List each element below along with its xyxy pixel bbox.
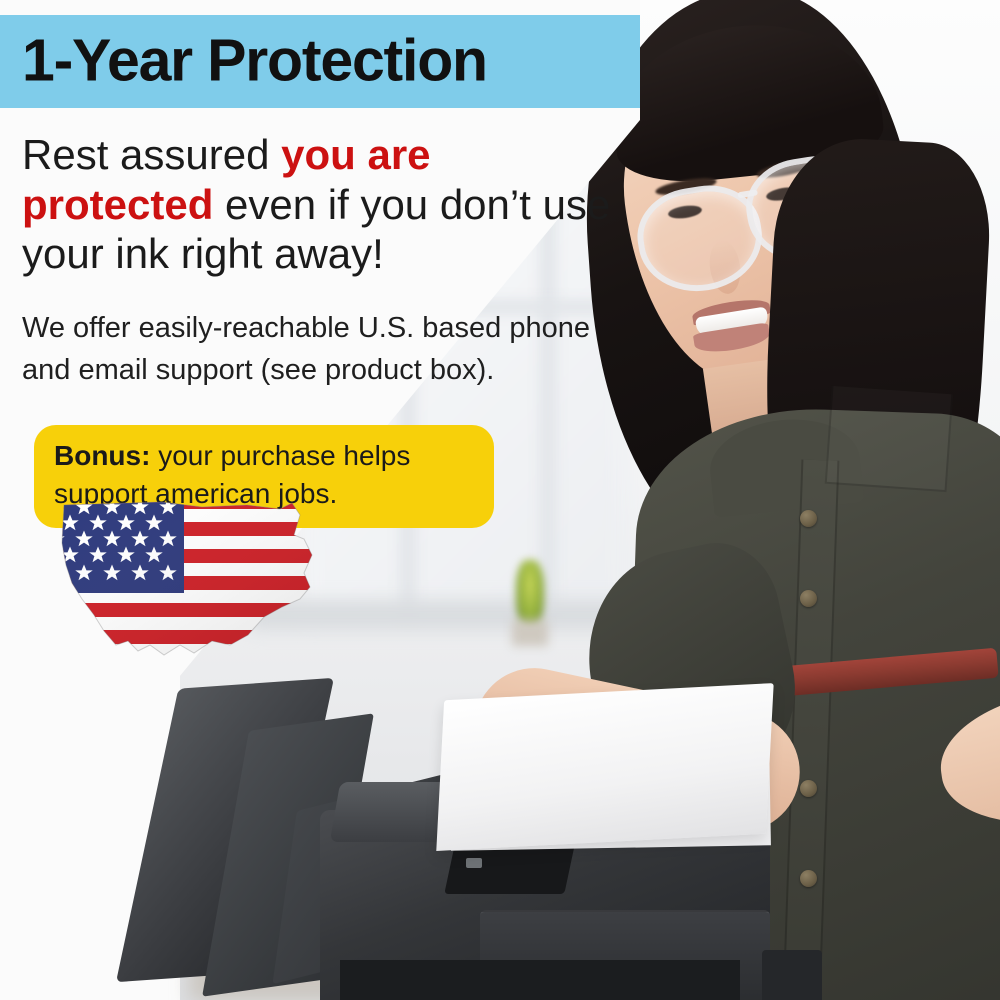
headline: Rest assured you are protected even if y… <box>22 130 612 279</box>
bonus-label: Bonus: <box>54 440 150 471</box>
support-paragraph: We offer easily-reachable U.S. based pho… <box>22 307 660 391</box>
shirt-button <box>800 590 817 607</box>
printer-power-button <box>466 858 482 868</box>
paper-sheet <box>436 683 773 851</box>
shirt-button <box>800 870 817 887</box>
usa-flag-map <box>42 495 342 670</box>
headline-lead: Rest assured <box>22 131 281 178</box>
header-banner: 1-Year Protection <box>0 15 640 108</box>
promo-poster: 1-Year Protection Rest assured you are p… <box>0 0 1000 1000</box>
page-title: 1-Year Protection <box>22 26 487 94</box>
printer-side-foot <box>762 950 822 1000</box>
flag-fill <box>42 495 342 670</box>
printer <box>150 660 770 1000</box>
shirt-button <box>800 780 817 797</box>
support-line-2: and email support (see product box). <box>22 354 494 386</box>
printer-base <box>340 960 740 1000</box>
shirt-button <box>800 510 817 527</box>
shirt-pocket <box>825 386 954 492</box>
plant-pot <box>512 620 548 646</box>
content-column: Rest assured you are protected even if y… <box>0 108 660 528</box>
support-line-1: We offer easily-reachable U.S. based pho… <box>22 312 590 344</box>
